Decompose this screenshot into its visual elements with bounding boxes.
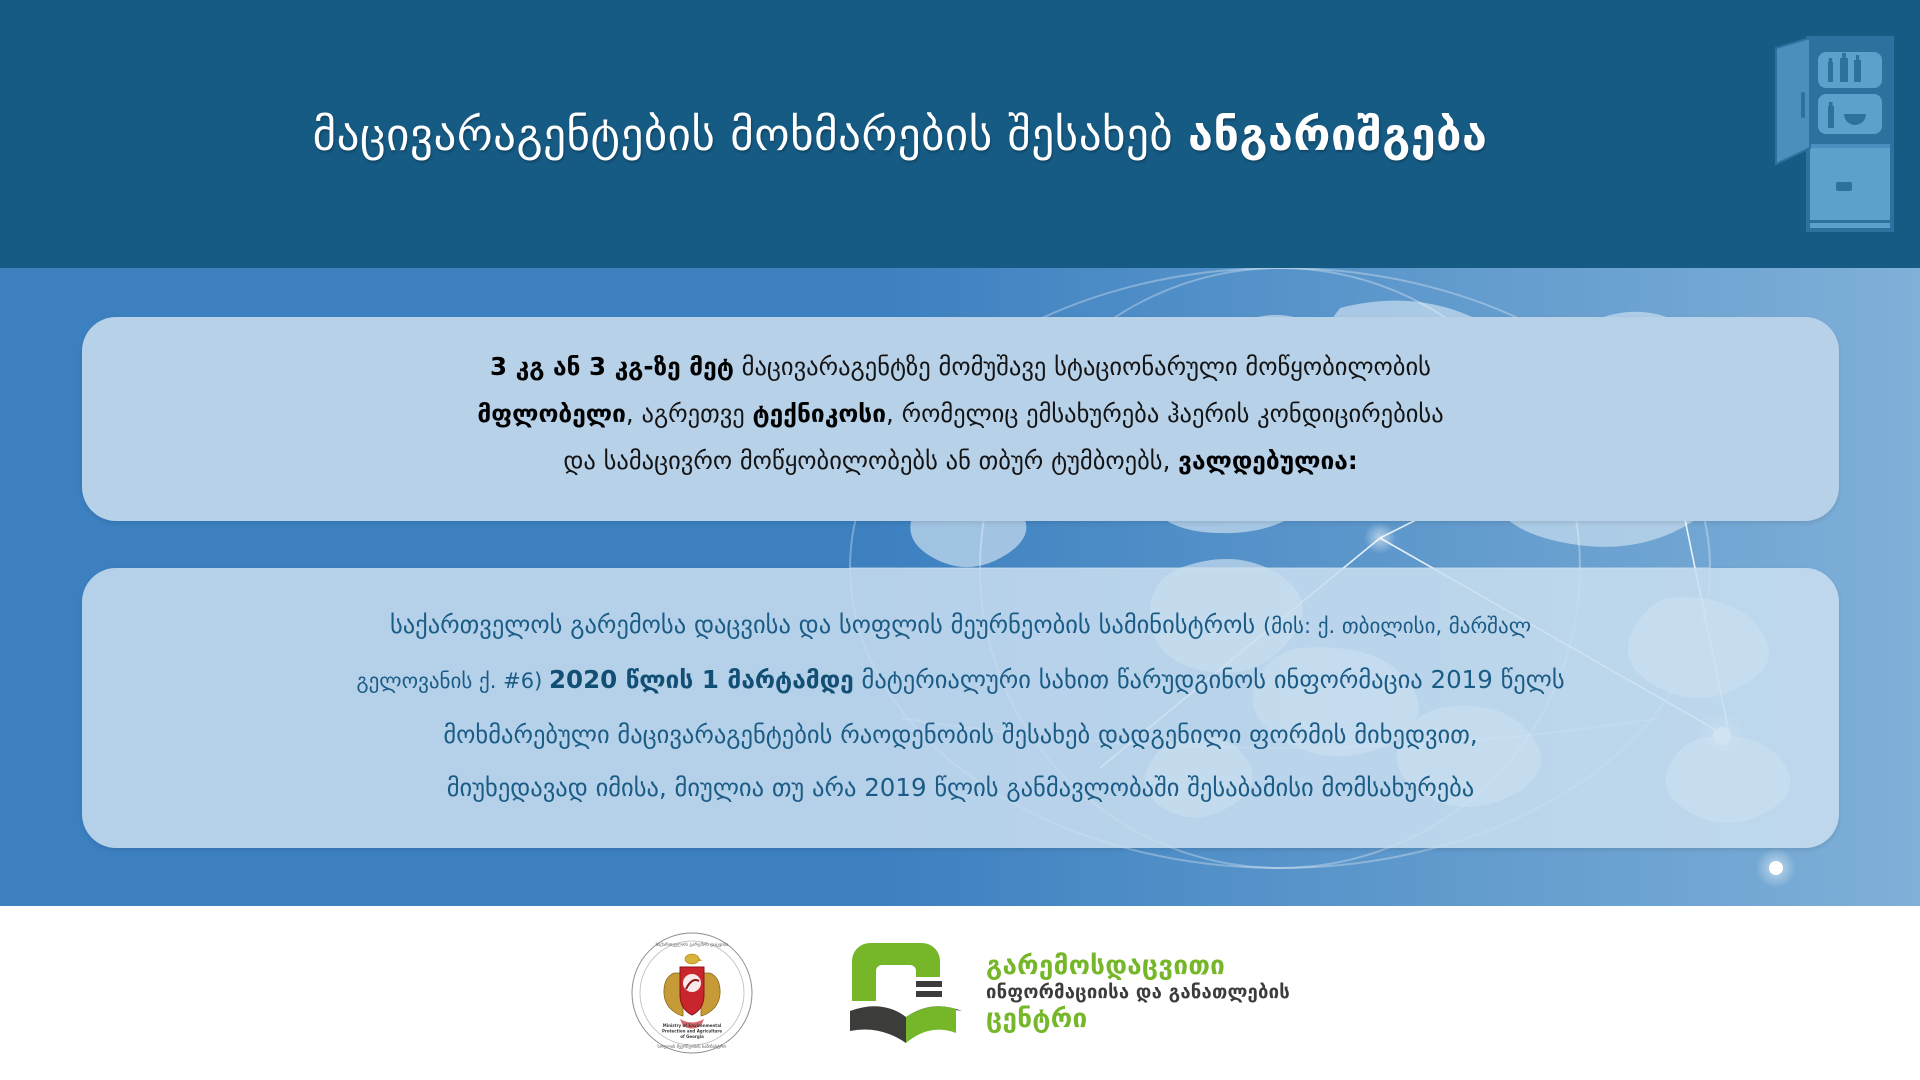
box1-line-1: 3 კგ ან 3 კგ-ზე მეტ მაცივარაგენტზე მომუშ… (138, 343, 1783, 390)
seal-ring-text: საქართველოს გარემოს დაცვისა (656, 941, 730, 948)
box1-line2-text-2: , რომელიც ემსახურება ჰაერის კონდიცირების… (886, 399, 1444, 428)
box2-line-4: მიუხედავად იმისა, მიულია თუ არა 2019 წლი… (128, 761, 1793, 814)
header-bar: მაცივარაგენტების მოხმარების შესახებ ანგა… (0, 0, 1920, 268)
eiec-logo-line2: ინფორმაციისა და განათლების (986, 982, 1290, 1004)
footer-logos: საქართველოს გარემოს დაცვისა სოფლის მეურნ… (0, 906, 1920, 1080)
seal-caption-line1: Ministry of Environmental (663, 1023, 722, 1028)
eiec-logo-line3: ცენტრი (986, 1004, 1290, 1035)
refrigerator-icon (1770, 30, 1902, 240)
box1-line1-rest: მაცივარაგენტზე მომუშავე სტაციონარული მოწ… (734, 352, 1431, 381)
box2-line-2: გელოვანის ქ. #6) 2020 წლის 1 მარტამდე მა… (128, 653, 1793, 708)
box1-line2-bold-2: ტექნიკოსი (753, 399, 886, 428)
page-title: მაცივარაგენტების მოხმარების შესახებ ანგა… (0, 0, 1770, 268)
box1-line3-bold: ვალდებულია: (1178, 446, 1358, 475)
box1-line-3: და სამაცივრო მოწყობილობებს ან თბურ ტუმბო… (138, 437, 1783, 484)
slide-root: მაცივარაგენტების მოხმარების შესახებ ანგა… (0, 0, 1920, 1080)
deadline-instruction-box: საქართველოს გარემოსა დაცვისა და სოფლის მ… (82, 568, 1839, 848)
box2-line-3: მოხმარებული მაცივარაგენტების რაოდენობის … (128, 708, 1793, 761)
eiec-logo: გარემოსდაცვითი ინფორმაციისა და განათლები… (840, 937, 1290, 1049)
page-title-regular: მაცივარაგენტების მოხმარების შესახებ (313, 108, 1188, 161)
ministry-seal-logo: საქართველოს გარემოს დაცვისა სოფლის მეურნ… (630, 931, 754, 1055)
box1-line1-bold: 3 კგ ან 3 კგ-ზე მეტ (490, 352, 734, 381)
seal-caption-line2: Protection and Agriculture (662, 1029, 722, 1034)
eiec-logo-line1: გარემოსდაცვითი (986, 951, 1290, 982)
seal-ring-text-bottom: სოფლის მეურნეობის სამინისტრო (658, 1044, 728, 1049)
seal-caption-line3: of Georgia (680, 1034, 704, 1039)
box2-line1-text: საქართველოს გარემოსა დაცვისა და სოფლის მ… (390, 610, 1263, 639)
page-title-bold: ანგარიშგება (1188, 108, 1487, 161)
box2-line1-address: (მის: ქ. თბილისი, მარშალ (1263, 614, 1531, 638)
box1-line2-bold-1: მფლობელი (477, 399, 626, 428)
box2-line-1: საქართველოს გარემოსა დაცვისა და სოფლის მ… (128, 598, 1793, 653)
box1-line-2: მფლობელი, აგრეთვე ტექნიკოსი, რომელიც ემს… (138, 390, 1783, 437)
requirement-callout-box: 3 კგ ან 3 კგ-ზე მეტ მაცივარაგენტზე მომუშ… (82, 317, 1839, 521)
box1-line2-text-1: , აგრეთვე (626, 399, 753, 428)
box1-line3-text: და სამაცივრო მოწყობილობებს ან თბურ ტუმბო… (563, 446, 1178, 475)
eiec-book-mark-icon (840, 937, 972, 1049)
content-panel: 3 კგ ან 3 კგ-ზე მეტ მაცივარაგენტზე მომუშ… (0, 268, 1920, 906)
box2-line2-deadline: 2020 წლის 1 მარტამდე (549, 665, 854, 694)
box2-line2-address-cont: გელოვანის ქ. #6) (356, 669, 549, 693)
box2-line2-text: მატერიალური სახით წარუდგინოს ინფორმაცია … (854, 665, 1565, 694)
